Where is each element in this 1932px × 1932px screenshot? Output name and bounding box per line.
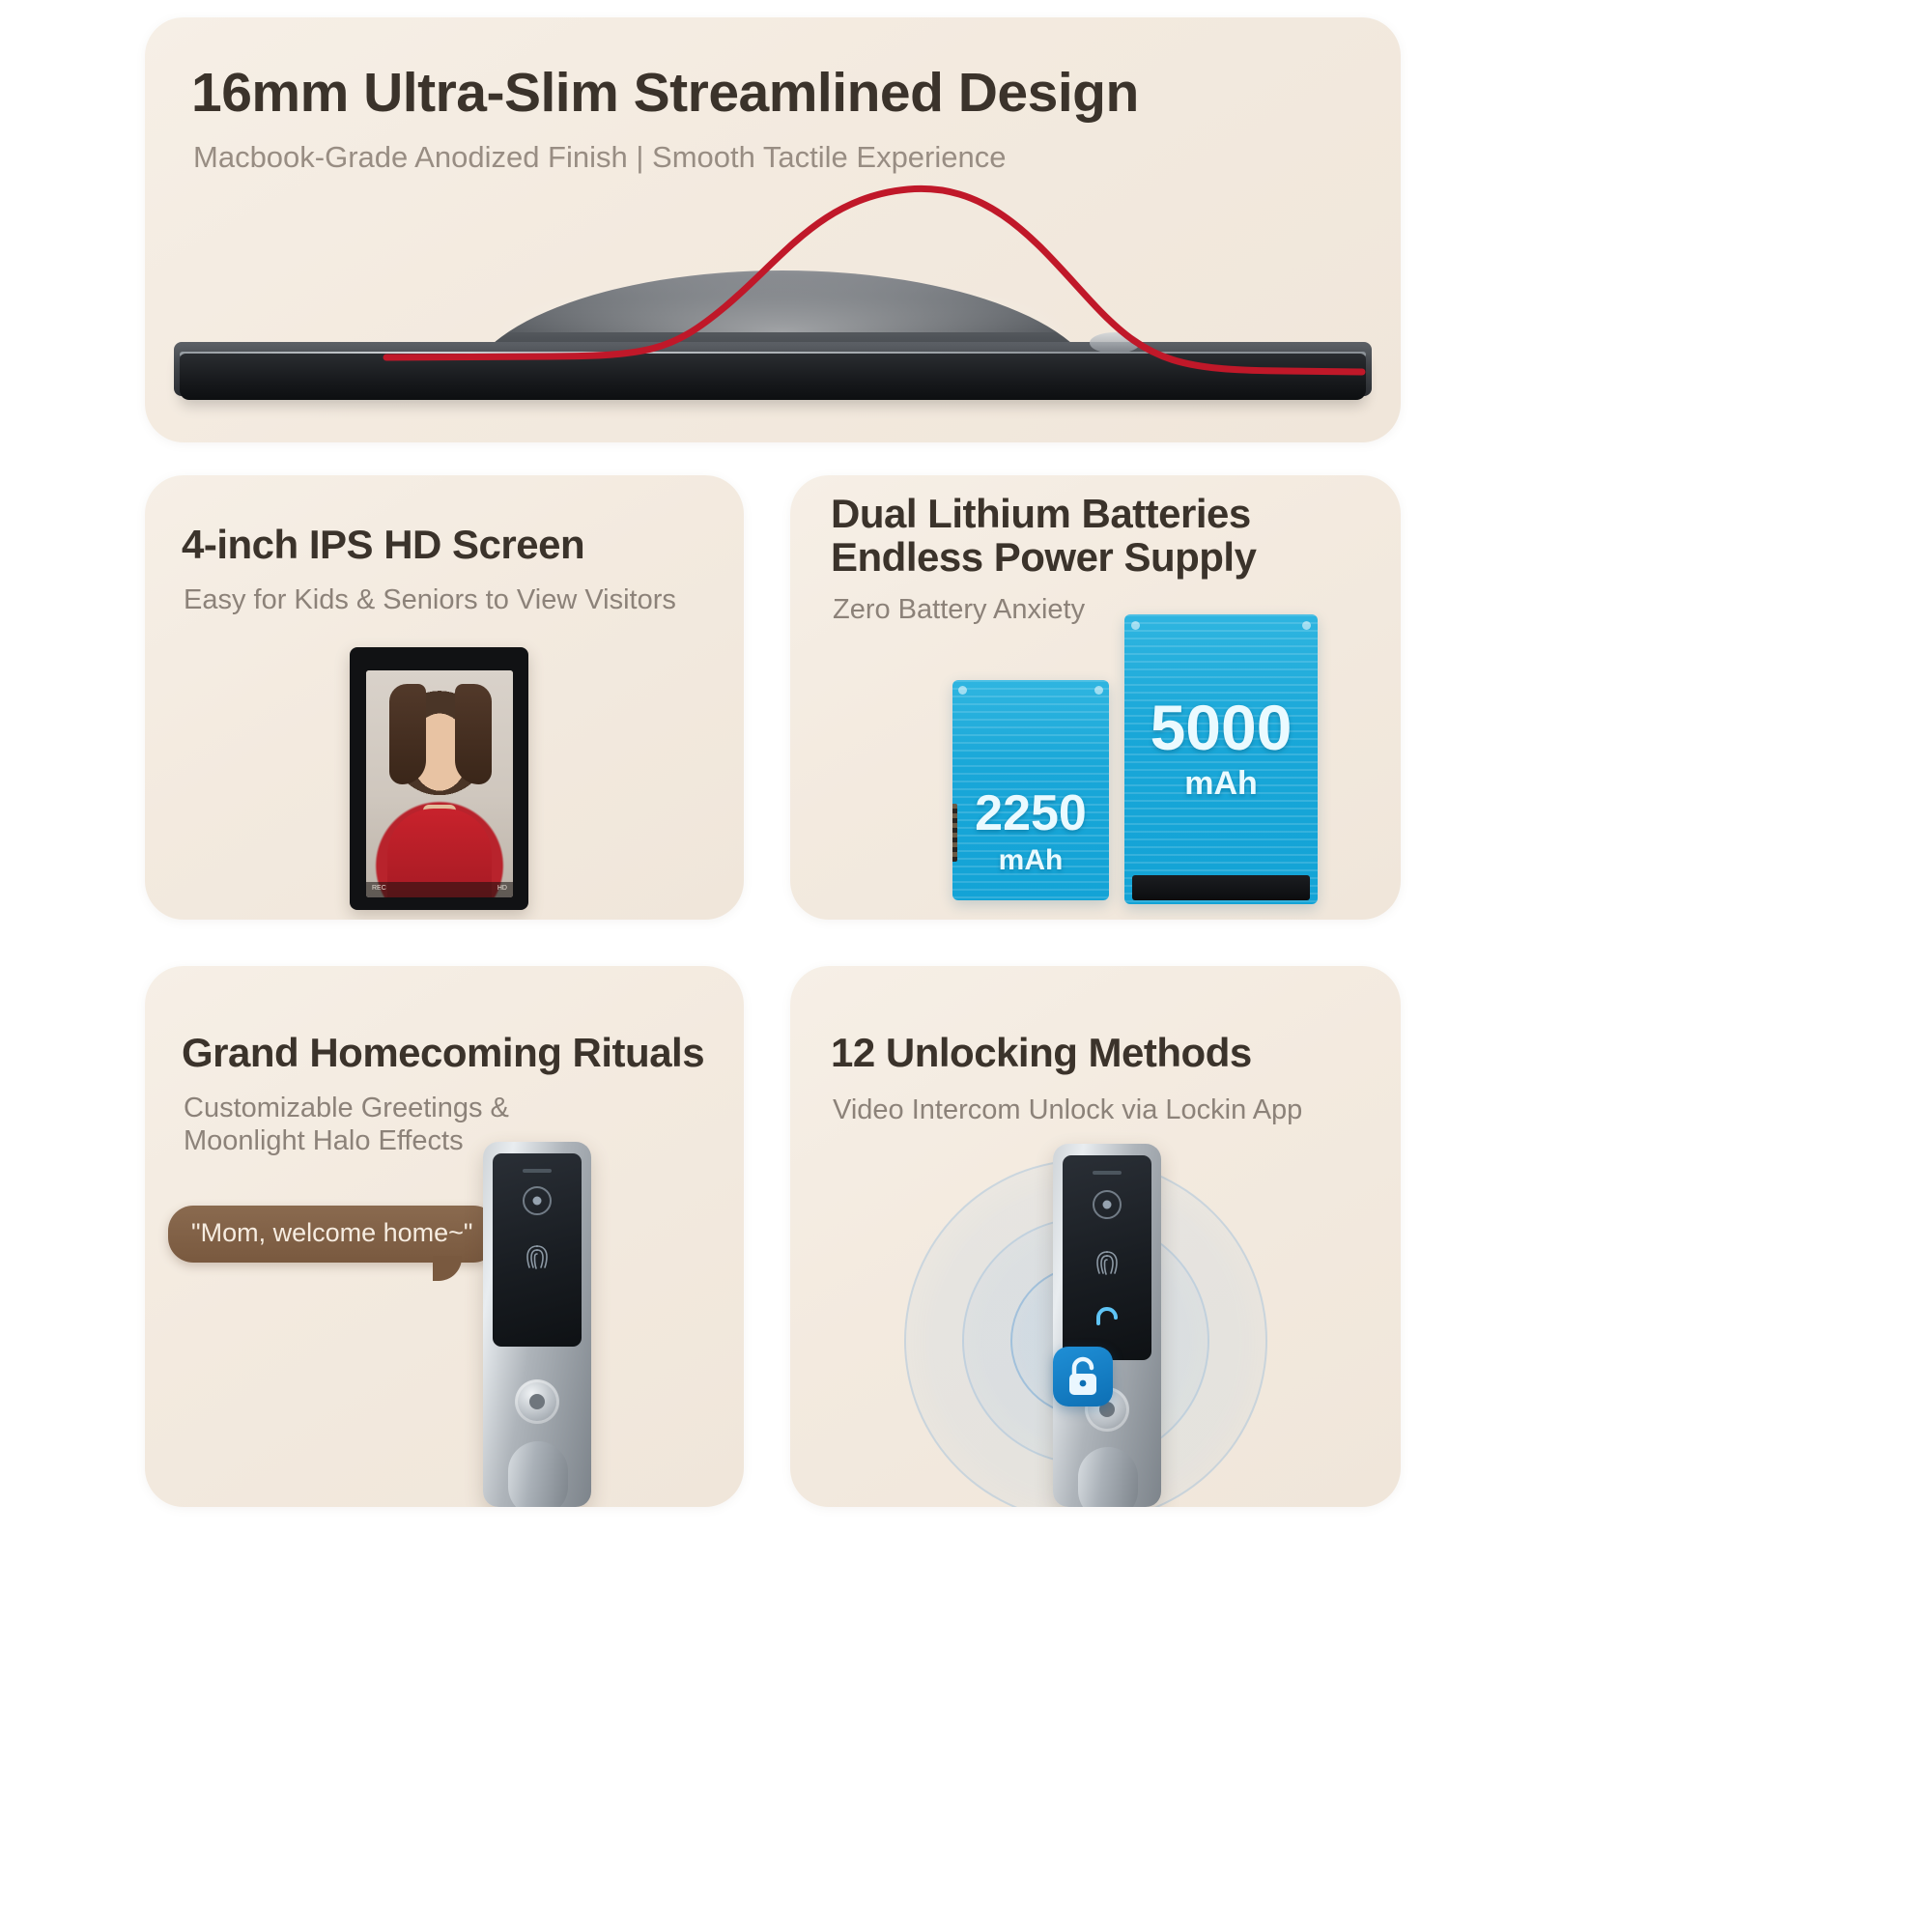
battery-capacity-2250: 2250 [952,788,1109,838]
osd-right-label: HD [497,885,507,892]
screen-osd-bar: REC HD [366,882,513,897]
smart-lock-device-ritual [483,1142,591,1507]
lock-camera-icon [1093,1190,1122,1219]
battery-corner-dot [1302,621,1311,630]
ips-screen-device-image: REC HD [350,647,528,910]
ritual-card-title: Grand Homecoming Rituals [182,1032,704,1075]
lock-handle [508,1441,568,1507]
battery-corner-dot [958,686,967,695]
lock-speaker-grill [1093,1171,1122,1175]
screen-card-title: 4-inch IPS HD Screen [182,524,584,567]
visitor-hair-right [455,684,492,784]
lock-camera-icon [523,1186,552,1215]
fingerprint-icon [525,1242,550,1271]
battery-corner-dot [1131,621,1140,630]
card-ips-screen: 4-inch IPS HD Screen Easy for Kids & Sen… [145,475,744,920]
card-homecoming-ritual: Grand Homecoming Rituals Customizable Gr… [145,966,744,1507]
smart-lock-device-unlock [1053,1144,1161,1507]
battery-cell-small: 2250 mAh [952,680,1109,900]
screen-card-subtitle: Easy for Kids & Seniors to View Visitors [184,583,676,616]
unlock-card-subtitle: Video Intercom Unlock via Lockin App [833,1094,1302,1126]
speech-bubble-tail [433,1256,462,1281]
battery-card-title: Dual Lithium Batteries Endless Power Sup… [831,493,1256,579]
lock-touch-panel [1063,1155,1151,1360]
battery-unit-2250: mAh [952,846,1109,875]
battery-unit-5000: mAh [1124,767,1318,800]
smart-lock-side-profile-image [145,162,1401,442]
padlock-unlocked-icon [1053,1347,1113,1406]
osd-left-label: REC [372,885,386,892]
lock-thumb-turn-knob [515,1379,559,1424]
battery-cell-large: 5000 mAh [1124,614,1318,904]
lock-handle [1078,1447,1138,1507]
visitor-hair-left [389,684,426,784]
fingerprint-icon [1094,1248,1120,1277]
greeting-speech-bubble: "Mom, welcome home~" [168,1206,498,1263]
product-infographic: 16mm Ultra-Slim Streamlined Design Macbo… [0,0,1932,1932]
app-unlock-badge [1053,1347,1113,1406]
card-unlocking-methods: 12 Unlocking Methods Video Intercom Unlo… [790,966,1401,1507]
lock-touch-panel [493,1153,582,1347]
unlock-card-title: 12 Unlocking Methods [831,1032,1252,1075]
card-dual-battery: Dual Lithium Batteries Endless Power Sup… [790,475,1401,920]
battery-capacity-5000: 5000 [1124,696,1318,759]
ips-viewport: REC HD [366,670,513,897]
red-contour-curve-icon [145,162,1401,442]
lock-speaker-grill [523,1169,552,1173]
card-ultra-slim-design: 16mm Ultra-Slim Streamlined Design Macbo… [145,17,1401,442]
ritual-card-subtitle: Customizable Greetings & Moonlight Halo … [184,1092,509,1157]
hero-title: 16mm Ultra-Slim Streamlined Design [191,64,1139,122]
battery-corner-dot [1094,686,1103,695]
open-padlock-glow-icon [1086,1302,1128,1345]
visitor-photo [366,670,513,897]
battery-card-subtitle: Zero Battery Anxiety [833,593,1085,626]
